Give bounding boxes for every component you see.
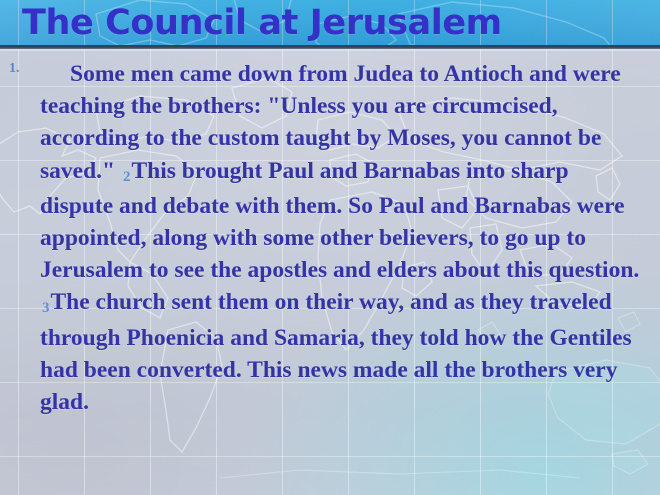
banner-divider-highlight — [0, 49, 660, 51]
verse-3-text: The church sent them on their way, and a… — [40, 289, 632, 415]
slide-content: 1.Some men came down from Judea to Antio… — [0, 58, 660, 418]
scripture-paragraph: 1.Some men came down from Judea to Antio… — [0, 58, 660, 418]
presentation-slide: The Council at Jerusalem 1.Some men came… — [0, 0, 660, 495]
verse-number-3: 3 — [40, 300, 51, 316]
title-banner: The Council at Jerusalem — [0, 0, 660, 45]
slide-title: The Council at Jerusalem — [22, 1, 502, 45]
verse-number-2: 2 — [121, 169, 132, 185]
list-marker: 1. — [9, 62, 20, 76]
